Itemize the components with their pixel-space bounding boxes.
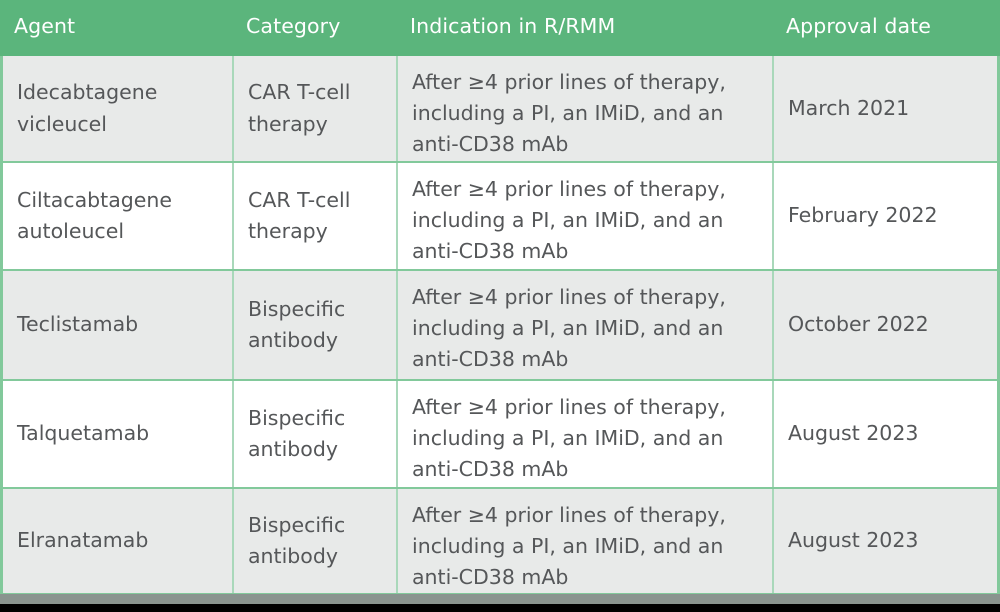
cell-category: CAR T-cell therapy	[232, 163, 396, 269]
cell-indication: After ≥4 prior lines of therapy, includi…	[396, 271, 772, 379]
cell-indication: After ≥4 prior lines of therapy, includi…	[396, 163, 772, 269]
cell-indication-text: After ≥4 prior lines of therapy, includi…	[412, 392, 762, 485]
cell-indication: After ≥4 prior lines of therapy, includi…	[396, 489, 772, 593]
cell-approval-date: August 2023	[772, 489, 997, 593]
column-header-indication: Indication in R/RMM	[396, 0, 772, 56]
cell-date-text: March 2021	[788, 93, 909, 124]
cell-category-text: Bispecific antibody	[248, 294, 386, 356]
table-row: Idecabtagene vicleucel CAR T-cell therap…	[3, 56, 997, 161]
cell-category: CAR T-cell therapy	[232, 56, 396, 161]
column-header-agent: Agent	[0, 0, 232, 56]
cell-indication-text: After ≥4 prior lines of therapy, includi…	[412, 282, 762, 375]
cell-agent-text: Elranatamab	[17, 525, 148, 556]
cell-indication-text: After ≥4 prior lines of therapy, includi…	[412, 174, 762, 267]
cell-agent-text: Ciltacabtagene autoleucel	[17, 185, 222, 247]
cell-indication-text: After ≥4 prior lines of therapy, includi…	[412, 67, 762, 160]
cell-approval-date: August 2023	[772, 381, 997, 487]
cell-category-text: CAR T-cell therapy	[248, 77, 386, 139]
cell-agent: Idecabtagene vicleucel	[3, 56, 232, 161]
cell-category: Bispecific antibody	[232, 271, 396, 379]
cell-category: Bispecific antibody	[232, 381, 396, 487]
cell-indication: After ≥4 prior lines of therapy, includi…	[396, 56, 772, 161]
cell-date-text: February 2022	[788, 200, 938, 231]
table-row: Teclistamab Bispecific antibody After ≥4…	[3, 269, 997, 379]
cell-agent: Teclistamab	[3, 271, 232, 379]
cell-date-text: August 2023	[788, 525, 918, 556]
cell-indication-text: After ≥4 prior lines of therapy, includi…	[412, 500, 762, 593]
screen: Agent Category Indication in R/RMM Appro…	[0, 0, 1000, 612]
cell-approval-date: March 2021	[772, 56, 997, 161]
bottom-bar	[0, 594, 1000, 604]
cell-agent: Elranatamab	[3, 489, 232, 593]
cell-agent: Ciltacabtagene autoleucel	[3, 163, 232, 269]
cell-agent-text: Talquetamab	[17, 418, 149, 449]
cell-category-text: CAR T-cell therapy	[248, 185, 386, 247]
column-header-category: Category	[232, 0, 396, 56]
cell-agent: Talquetamab	[3, 381, 232, 487]
table-row: Talquetamab Bispecific antibody After ≥4…	[3, 379, 997, 487]
cell-category-text: Bispecific antibody	[248, 403, 386, 465]
bottom-edge	[0, 604, 1000, 612]
table-body: Idecabtagene vicleucel CAR T-cell therap…	[0, 56, 1000, 596]
cell-agent-text: Teclistamab	[17, 309, 138, 340]
cell-agent-text: Idecabtagene vicleucel	[17, 77, 222, 139]
cell-approval-date: February 2022	[772, 163, 997, 269]
table-row: Ciltacabtagene autoleucel CAR T-cell the…	[3, 161, 997, 269]
cell-date-text: October 2022	[788, 309, 929, 340]
cell-date-text: August 2023	[788, 418, 918, 449]
cell-approval-date: October 2022	[772, 271, 997, 379]
table-row: Elranatamab Bispecific antibody After ≥4…	[3, 487, 997, 593]
cell-category: Bispecific antibody	[232, 489, 396, 593]
table-header-row: Agent Category Indication in R/RMM Appro…	[0, 0, 1000, 56]
cell-indication: After ≥4 prior lines of therapy, includi…	[396, 381, 772, 487]
column-header-approval-date: Approval date	[772, 0, 1000, 56]
cell-category-text: Bispecific antibody	[248, 510, 386, 572]
